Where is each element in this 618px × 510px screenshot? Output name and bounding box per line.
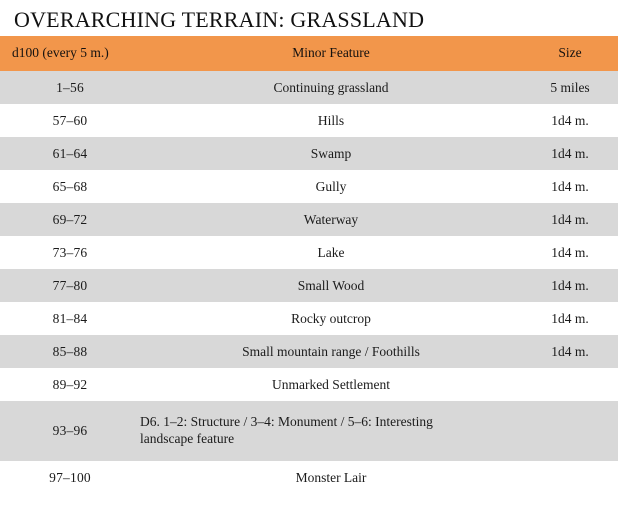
terrain-table: d100 (every 5 m.) Minor Feature Size 1–5… (0, 36, 618, 494)
cell-roll: 73–76 (0, 236, 140, 269)
cell-feature: D6. 1–2: Structure / 3–4: Monument / 5–6… (140, 401, 522, 461)
cell-feature: Rocky outcrop (140, 302, 522, 335)
cell-roll: 97–100 (0, 461, 140, 494)
cell-roll: 89–92 (0, 368, 140, 401)
table-header: d100 (every 5 m.) Minor Feature Size (0, 36, 618, 71)
table-row: 1–56 Continuing grassland 5 miles (0, 71, 618, 104)
cell-roll: 85–88 (0, 335, 140, 368)
page-root: OVERARCHING TERRAIN: GRASSLAND d100 (eve… (0, 0, 618, 510)
cell-size (522, 401, 618, 461)
cell-feature: Small Wood (140, 269, 522, 302)
cell-roll: 61–64 (0, 137, 140, 170)
table-header-row: d100 (every 5 m.) Minor Feature Size (0, 36, 618, 71)
cell-size: 1d4 m. (522, 302, 618, 335)
cell-roll: 57–60 (0, 104, 140, 137)
table-row: 85–88 Small mountain range / Foothills 1… (0, 335, 618, 368)
column-header-feature: Minor Feature (140, 36, 522, 71)
cell-size (522, 461, 618, 494)
cell-roll: 1–56 (0, 71, 140, 104)
table-row: 69–72 Waterway 1d4 m. (0, 203, 618, 236)
cell-size: 1d4 m. (522, 170, 618, 203)
cell-feature: Waterway (140, 203, 522, 236)
cell-roll: 69–72 (0, 203, 140, 236)
table-row: 81–84 Rocky outcrop 1d4 m. (0, 302, 618, 335)
cell-roll: 77–80 (0, 269, 140, 302)
cell-size: 1d4 m. (522, 104, 618, 137)
cell-size: 1d4 m. (522, 269, 618, 302)
cell-size: 1d4 m. (522, 335, 618, 368)
page-title: OVERARCHING TERRAIN: GRASSLAND (0, 0, 618, 36)
cell-feature: Unmarked Settlement (140, 368, 522, 401)
cell-size: 1d4 m. (522, 236, 618, 269)
cell-roll: 81–84 (0, 302, 140, 335)
table-row: 77–80 Small Wood 1d4 m. (0, 269, 618, 302)
table-body: 1–56 Continuing grassland 5 miles 57–60 … (0, 71, 618, 494)
cell-feature: Swamp (140, 137, 522, 170)
cell-size: 1d4 m. (522, 203, 618, 236)
cell-feature: Monster Lair (140, 461, 522, 494)
table-row: 97–100 Monster Lair (0, 461, 618, 494)
table-row: 65–68 Gully 1d4 m. (0, 170, 618, 203)
cell-feature: Gully (140, 170, 522, 203)
cell-size (522, 368, 618, 401)
cell-roll: 93–96 (0, 401, 140, 461)
cell-feature: Hills (140, 104, 522, 137)
column-header-roll: d100 (every 5 m.) (0, 36, 140, 71)
table-row: 57–60 Hills 1d4 m. (0, 104, 618, 137)
table-row: 89–92 Unmarked Settlement (0, 368, 618, 401)
cell-size: 5 miles (522, 71, 618, 104)
table-row: 61–64 Swamp 1d4 m. (0, 137, 618, 170)
table-row: 93–96 D6. 1–2: Structure / 3–4: Monument… (0, 401, 618, 461)
cell-feature: Continuing grassland (140, 71, 522, 104)
cell-feature: Small mountain range / Foothills (140, 335, 522, 368)
column-header-size: Size (522, 36, 618, 71)
cell-size: 1d4 m. (522, 137, 618, 170)
cell-roll: 65–68 (0, 170, 140, 203)
table-row: 73–76 Lake 1d4 m. (0, 236, 618, 269)
cell-feature: Lake (140, 236, 522, 269)
